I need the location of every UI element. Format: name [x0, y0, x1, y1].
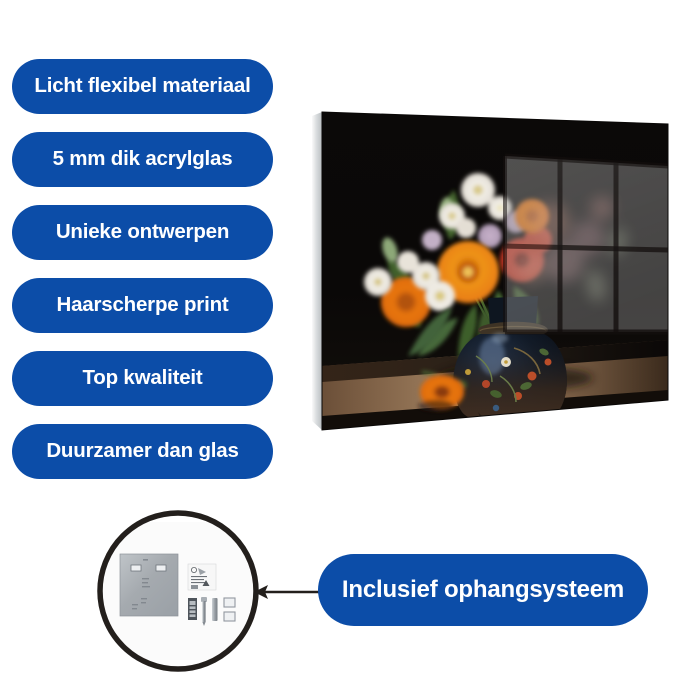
instruction-sheet [188, 564, 216, 590]
metal-rod [212, 598, 218, 621]
artwork-panel-svg [300, 90, 690, 450]
mounting-kit-svg [88, 502, 268, 682]
feature-badge-label: Duurzamer dan glas [46, 441, 238, 462]
acrylic-glass-panel-preview [300, 90, 690, 450]
callout-badge-inclusief-ophangsysteem[interactable]: Inclusief ophangsysteem [318, 554, 648, 626]
callout-arrow [248, 572, 328, 612]
feature-badge-label: 5 mm dik acrylglas [53, 149, 233, 170]
mounting-kit-photo [88, 502, 268, 682]
feature-badge-top-kwaliteit[interactable]: Top kwaliteit [12, 351, 273, 406]
feature-badge-label: Top kwaliteit [82, 368, 202, 389]
mounting-kit-circle-callout [88, 502, 268, 682]
window-reflection [505, 156, 668, 332]
wall-anchor [188, 598, 197, 620]
feature-badge-label: Unieke ontwerpen [56, 222, 229, 243]
feature-badge-label: Haarscherpe print [56, 295, 228, 316]
feature-badge-unieke-ontwerpen[interactable]: Unieke ontwerpen [12, 205, 273, 260]
feature-badge-haarscherpe-print[interactable]: Haarscherpe print [12, 278, 273, 333]
feature-badge-label: Licht flexibel materiaal [34, 76, 250, 97]
callout-arrow-icon [248, 572, 328, 612]
artwork-image [300, 90, 690, 450]
acrylic-edge-thickness [312, 112, 322, 430]
callout-badge-label: Inclusief ophangsysteem [342, 578, 624, 602]
feature-badge-duurzamer-dan-glas[interactable]: Duurzamer dan glas [12, 424, 273, 479]
feature-badge-5-mm-dik-acrylglas[interactable]: 5 mm dik acrylglas [12, 132, 273, 187]
metal-mounting-plate [120, 554, 178, 616]
feature-badge-licht-flexibel-materiaal[interactable]: Licht flexibel materiaal [12, 59, 273, 114]
